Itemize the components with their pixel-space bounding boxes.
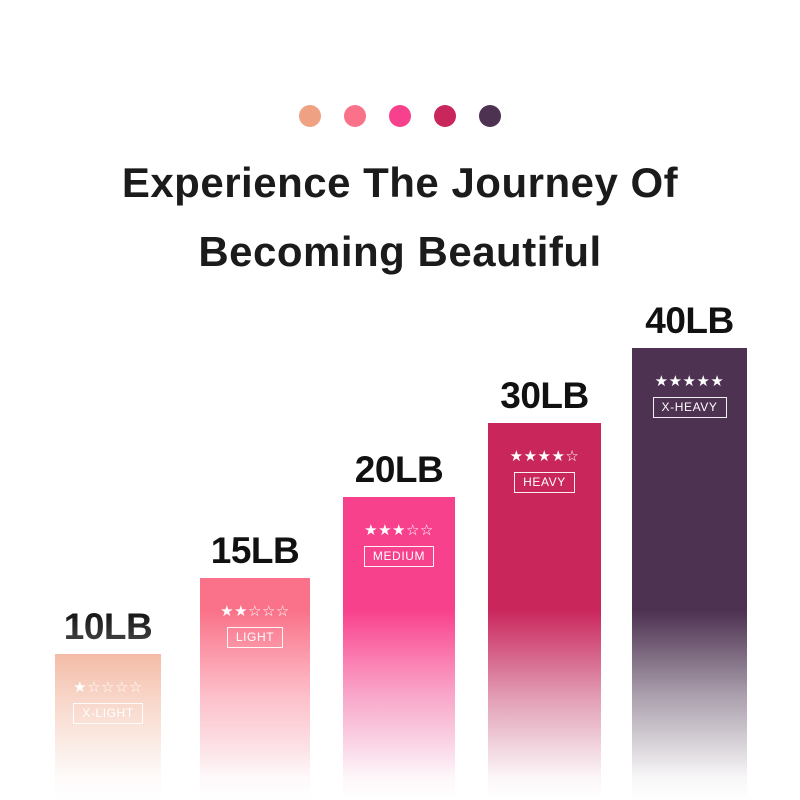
- star-rating-icon: ★★☆☆☆: [220, 604, 290, 619]
- bar-content: ★☆☆☆☆X-LIGHT: [55, 680, 161, 724]
- bar[interactable]: ★★☆☆☆LIGHT: [200, 578, 310, 800]
- bar-value-label: 15LB: [211, 530, 299, 572]
- resistance-level-badge: X-HEAVY: [653, 397, 727, 418]
- bar-group[interactable]: 30LB★★★★☆HEAVY: [488, 423, 601, 800]
- bar-group[interactable]: 40LB★★★★★X-HEAVY: [632, 348, 747, 800]
- bar-group[interactable]: 20LB★★★☆☆MEDIUM: [343, 497, 455, 800]
- bar[interactable]: ★★★★★X-HEAVY: [632, 348, 747, 800]
- resistance-band-bar-chart: 10LB★☆☆☆☆X-LIGHT15LB★★☆☆☆LIGHT20LB★★★☆☆M…: [0, 0, 800, 800]
- bar[interactable]: ★★★★☆HEAVY: [488, 423, 601, 800]
- bar-content: ★★★☆☆MEDIUM: [343, 523, 455, 567]
- bar-value-label: 30LB: [500, 375, 588, 417]
- promo-graphic: Experience The Journey Of Becoming Beaut…: [0, 0, 800, 800]
- resistance-level-badge: LIGHT: [227, 627, 283, 648]
- resistance-level-badge: HEAVY: [514, 472, 575, 493]
- star-rating-icon: ★★★☆☆: [364, 523, 434, 538]
- bar-content: ★★★★★X-HEAVY: [632, 374, 747, 418]
- bar[interactable]: ★☆☆☆☆X-LIGHT: [55, 654, 161, 800]
- resistance-level-badge: X-LIGHT: [73, 703, 143, 724]
- bar-value-label: 10LB: [64, 606, 152, 648]
- star-rating-icon: ★☆☆☆☆: [73, 680, 143, 695]
- bar-value-label: 20LB: [355, 449, 443, 491]
- bar-fill: [55, 654, 161, 800]
- bar-value-label: 40LB: [645, 300, 733, 342]
- bar-content: ★★☆☆☆LIGHT: [200, 604, 310, 648]
- star-rating-icon: ★★★★☆: [510, 449, 580, 464]
- bar[interactable]: ★★★☆☆MEDIUM: [343, 497, 455, 800]
- bar-group[interactable]: 15LB★★☆☆☆LIGHT: [200, 578, 310, 800]
- bar-content: ★★★★☆HEAVY: [488, 449, 601, 493]
- resistance-level-badge: MEDIUM: [364, 546, 434, 567]
- bar-group[interactable]: 10LB★☆☆☆☆X-LIGHT: [55, 654, 161, 800]
- star-rating-icon: ★★★★★: [655, 374, 725, 389]
